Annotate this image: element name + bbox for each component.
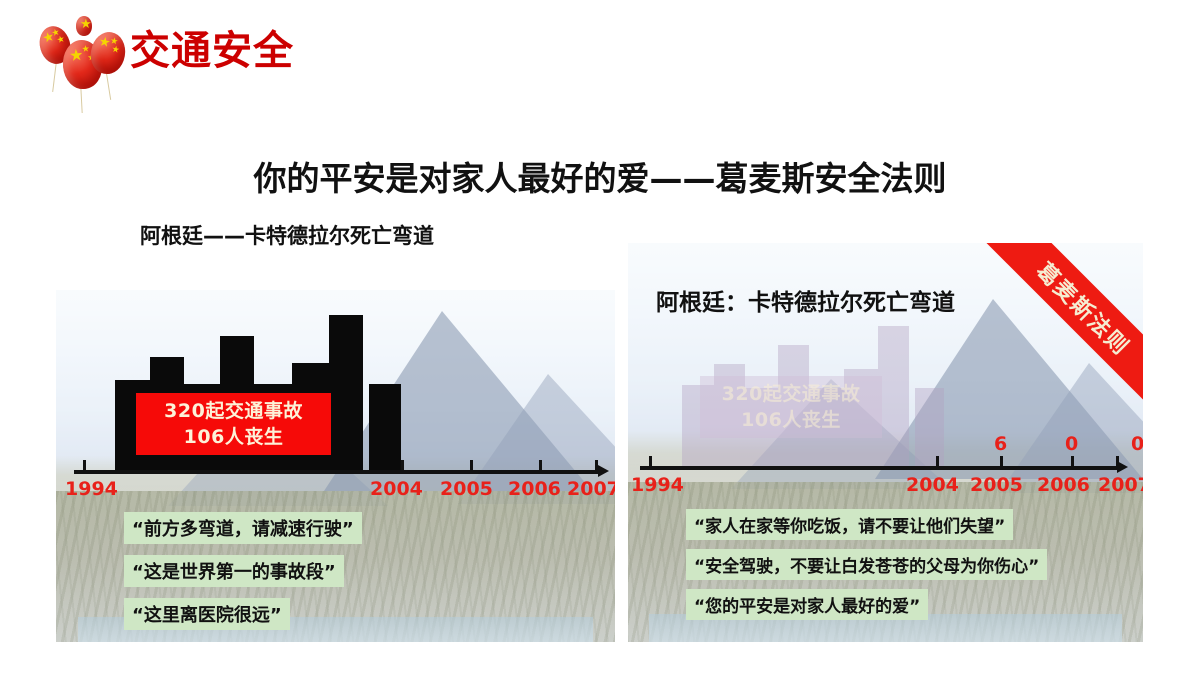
callout-line-2: 106人丧生 (146, 424, 321, 450)
axis-tick-2007 (595, 460, 598, 471)
callout-line-1: 320起交通事故 (710, 381, 872, 407)
axis-label-2007: 2007 (567, 478, 615, 500)
right-quote-3: “您的平安是对家人最好的爱” (686, 589, 928, 620)
axis-label-2007: 2007 (1098, 474, 1143, 496)
axis-label-2006: 2006 (1037, 474, 1090, 496)
axis-label-2005: 2005 (970, 474, 1023, 496)
axis-tick-2004 (936, 456, 939, 467)
flag-star-icon: ★ (111, 46, 121, 56)
axis-tick-2005 (1000, 456, 1003, 467)
bar-2001 (369, 384, 401, 470)
axis-label-2005: 2005 (440, 478, 493, 500)
right-quote-2: “安全驾驶，不要让白发苍苍的父母为你伤心” (686, 549, 1047, 580)
page-subtitle: 阿根廷——卡特德拉尔死亡弯道 (140, 220, 434, 250)
left-quote-3: “这里离医院很远” (124, 598, 290, 630)
axis-label-2004: 2004 (906, 474, 959, 496)
callout-line-2: 106人丧生 (710, 407, 872, 433)
timeline-axis (640, 466, 1118, 470)
value-2006: 0 (1065, 433, 1078, 455)
flag-star-icon: ★ (80, 20, 92, 29)
axis-tick-1994 (83, 460, 86, 471)
value-2005: 6 (994, 433, 1007, 455)
header-title: 交通安全 (130, 18, 294, 76)
left-quote-2: “这是世界第一的事故段” (124, 555, 344, 587)
bar-2001 (915, 388, 944, 466)
axis-tick-2007 (1116, 456, 1119, 467)
axis-label-2004: 2004 (370, 478, 423, 500)
balloons-icon: ★ ★ ★ ★ ★ ★ ★ ★ ★ ★ (18, 8, 124, 94)
axis-tick-2004 (401, 460, 404, 471)
axis-tick-2006 (1071, 456, 1074, 467)
left-quote-1: “前方多弯道，请减速行驶” (124, 512, 362, 544)
balloon-string (52, 62, 57, 92)
timeline-axis (74, 470, 600, 474)
balloon-string (80, 87, 82, 113)
left-chart-panel: 320起交通事故 106人丧生 1994 2004 2005 2006 2007… (56, 290, 615, 642)
axis-label-2006: 2006 (508, 478, 561, 500)
flag-star-icon: ★ (56, 35, 66, 46)
page-title: 你的平安是对家人最好的爱——葛麦斯安全法则 (0, 152, 1200, 200)
left-callout-box: 320起交通事故 106人丧生 (136, 393, 331, 455)
axis-label-1994: 1994 (65, 478, 118, 500)
axis-tick-2006 (539, 460, 542, 471)
value-2007: 0 (1131, 433, 1143, 455)
balloon-string (106, 72, 111, 100)
axis-tick-1994 (649, 456, 652, 467)
right-quote-1: “家人在家等你吃饭，请不要让他们失望” (686, 509, 1013, 540)
axis-arrow-icon (598, 465, 609, 477)
balloon-small: ★ (76, 16, 92, 36)
bar-2000 (329, 315, 363, 470)
axis-label-1994: 1994 (631, 474, 684, 496)
callout-line-1: 320起交通事故 (146, 398, 321, 424)
axis-tick-2005 (470, 460, 473, 471)
slide-header: ★ ★ ★ ★ ★ ★ ★ ★ ★ ★ 交通安全 (0, 0, 1200, 100)
right-callout-box: 320起交通事故 106人丧生 (700, 376, 882, 438)
right-chart-panel: 葛麦斯法则 阿根廷：卡特德拉尔死亡弯道 320起交通事故 106人丧生 6 0 … (628, 243, 1143, 642)
bar-2000 (878, 326, 909, 466)
